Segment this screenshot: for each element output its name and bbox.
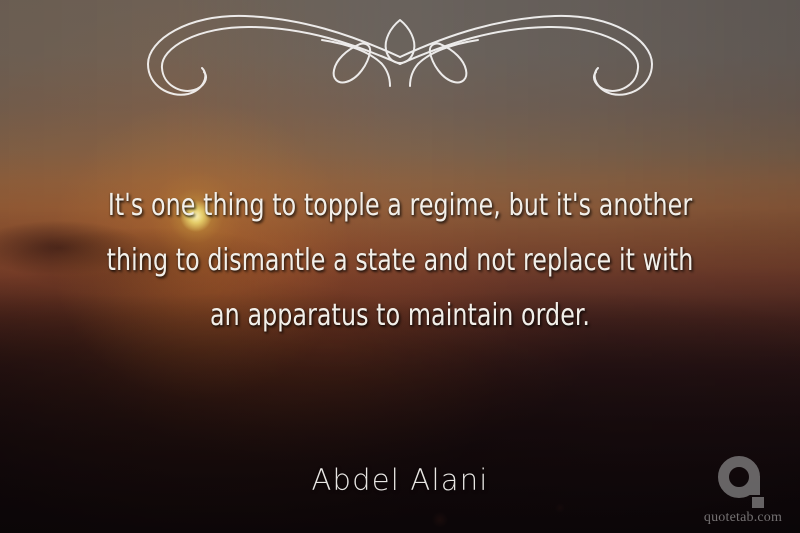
quote-text: It's one thing to topple a regime, but i…	[88, 178, 711, 343]
logo-stem-shape	[749, 476, 760, 495]
quote-author: Abdel Alani	[0, 463, 800, 497]
quotetab-watermark[interactable]: quotetab.com	[700, 456, 786, 525]
quotetab-q-logo-icon	[718, 456, 768, 508]
quote-image-canvas: It's one thing to topple a regime, but i…	[0, 0, 800, 533]
logo-dot-shape	[752, 497, 764, 508]
watermark-site-label: quotetab.com	[704, 511, 782, 525]
